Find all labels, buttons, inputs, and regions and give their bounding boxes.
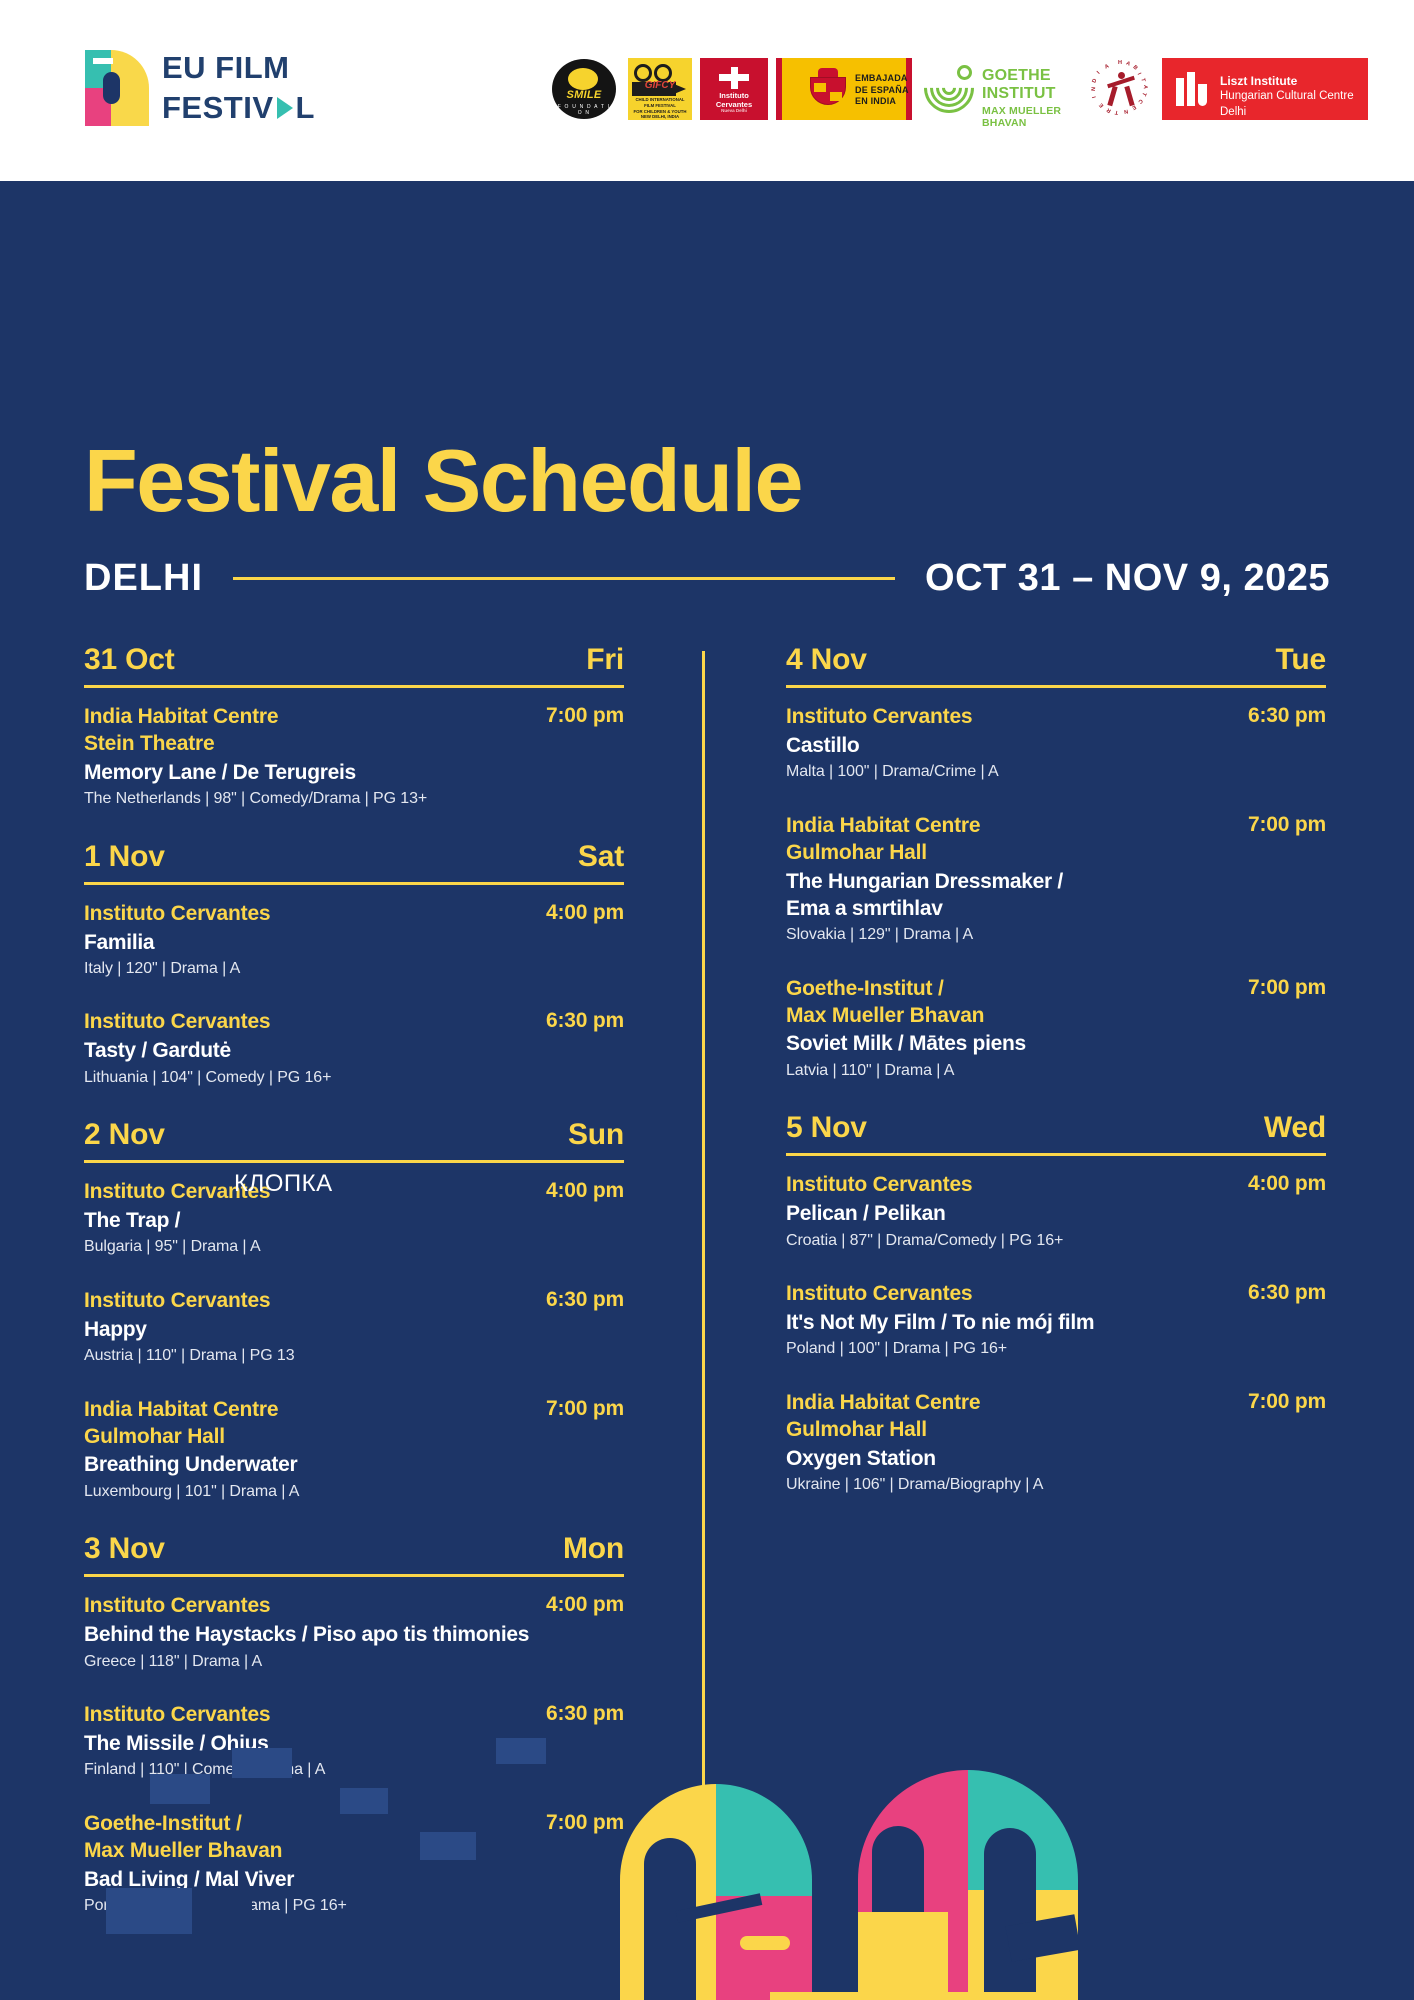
event-meta: Greece | 118" | Drama | A [84,1651,624,1673]
goethe-logo-subtitle: MAX MUELLER BHAVAN [982,106,1061,130]
event-film-title: The Trap / [84,1207,624,1234]
event-time: 4:00 pm [536,1179,624,1203]
schedule-event[interactable]: Instituto Cervantes4:00 pmBehind the Hay… [84,1593,624,1672]
liszt-logo-title: Liszt Institute [1220,73,1368,89]
day-rule [84,1160,624,1163]
date-range-label: OCT 31 – NOV 9, 2025 [925,557,1330,600]
schedule-event[interactable]: India Habitat Centre Stein Theatre7:00 p… [84,704,624,810]
day-header: 3 NovMon [84,1532,624,1566]
day-header: 4 NovTue [786,643,1326,677]
schedule-event[interactable]: India Habitat Centre Gulmohar Hall7:00 p… [786,1390,1326,1496]
event-venue: Instituto Cervantes [84,1288,270,1315]
gifcy-logo-title: GIFCY [628,80,692,91]
event-meta: Luxembourg | 101" | Drama | A [84,1481,624,1503]
schedule-event[interactable]: Instituto Cervantes6:30 pmTasty / Gardut… [84,1009,624,1088]
event-venue: Goethe-Institut / Max Mueller Bhavan [786,976,984,1030]
event-header: Goethe-Institut / Max Mueller Bhavan7:00… [786,976,1326,1030]
schedule-event[interactable]: Instituto Cervantes4:00 pmThe Trap / КЛО… [84,1179,624,1258]
event-film-title: Tasty / Gardutė [84,1037,624,1064]
event-meta: Portugal | 127 mins | Drama | PG 16+ [84,1895,624,1917]
day-date: 2 Nov [84,1118,165,1152]
day-group: 3 NovMonInstituto Cervantes4:00 pmBehind… [84,1532,624,1916]
india-habitat-centre-logo-icon: H A B I T A T C E N T R E I N D I [1088,58,1154,120]
event-film-title: Behind the Haystacks / Piso apo tis thim… [84,1621,624,1648]
event-venue: Instituto Cervantes [786,1281,972,1308]
event-film-title: Castillo [786,732,1326,759]
event-meta: Austria | 110" | Drama | PG 13 [84,1345,624,1367]
schedule-event[interactable]: Goethe-Institut / Max Mueller Bhavan7:00… [84,1811,624,1917]
event-meta: The Netherlands | 98" | Comedy/Drama | P… [84,788,624,810]
eu-film-festival-brand: EU FILM FESTIV L [85,48,315,127]
page-title: Festival Schedule [84,437,802,525]
event-header: Instituto Cervantes4:00 pm [786,1172,1326,1199]
day-header: 5 NovWed [786,1111,1326,1145]
event-header: India Habitat Centre Stein Theatre7:00 p… [84,704,624,758]
event-header: Instituto Cervantes6:30 pm [84,1288,624,1315]
event-film-title: Bad Living / Mal Viver [84,1866,624,1893]
event-meta: Finland | 110" | Comedy/Drama | A [84,1759,624,1781]
event-time: 6:30 pm [1238,704,1326,728]
cervantes-logo-title: Instituto Cervantes [700,91,768,110]
day-weekday: Wed [1264,1111,1326,1145]
event-film-title: Soviet Milk / Mātes piens [786,1030,1326,1057]
event-film-title: The Hungarian Dressmaker / Ema a smrtihl… [786,868,1326,923]
event-meta: Malta | 100" | Drama/Crime | A [786,761,1326,783]
poster-body: Festival Schedule DELHI OCT 31 – NOV 9, … [0,181,1414,2000]
event-time: 4:00 pm [1238,1172,1326,1196]
schedule-event[interactable]: Goethe-Institut / Max Mueller Bhavan7:00… [786,976,1326,1082]
event-venue: Instituto Cervantes [84,1702,270,1729]
event-film-title: It's Not My Film / To nie mój film [786,1309,1326,1336]
event-venue: India Habitat Centre Gulmohar Hall [84,1397,278,1451]
event-meta: Lithuania | 104" | Comedy | PG 16+ [84,1067,624,1089]
schedule-event[interactable]: Instituto Cervantes4:00 pmFamiliaItaly |… [84,901,624,980]
event-header: Instituto Cervantes4:00 pm [84,1179,624,1206]
day-date: 31 Oct [84,643,175,677]
event-time: 7:00 pm [536,1811,624,1835]
event-meta: Italy | 120" | Drama | A [84,958,624,980]
poster-header: EU FILM FESTIV L SMILE F O U N D A T I O… [0,0,1414,181]
brand-wordmark: EU FILM FESTIV L [162,48,315,127]
event-time: 7:00 pm [1238,976,1326,1000]
event-time: 6:30 pm [536,1288,624,1312]
day-header: 2 NovSun [84,1118,624,1152]
event-header: Goethe-Institut / Max Mueller Bhavan7:00… [84,1811,624,1865]
event-header: India Habitat Centre Gulmohar Hall7:00 p… [786,1390,1326,1444]
spain-logo-title: EMBAJADA DE ESPAÑA EN INDIA [855,73,909,108]
horizontal-rule [233,577,895,580]
schedule-column-left: 31 OctFriIndia Habitat Centre Stein Thea… [84,643,624,1947]
event-header: Instituto Cervantes6:30 pm [84,1702,624,1729]
smile-foundation-logo-icon: SMILE F O U N D A T I O N [550,58,620,120]
event-venue: India Habitat Centre Stein Theatre [84,704,278,758]
day-weekday: Tue [1275,643,1326,677]
event-venue: India Habitat Centre Gulmohar Hall [786,813,980,867]
day-group: 4 NovTueInstituto Cervantes6:30 pmCastil… [786,643,1326,1081]
event-film-title: Familia [84,929,624,956]
event-venue: Instituto Cervantes [84,1009,270,1036]
city-label: DELHI [84,557,203,600]
event-film-title: Oxygen Station [786,1445,1326,1472]
day-header: 1 NovSat [84,840,624,874]
event-meta: Latvia | 110" | Drama | A [786,1060,1326,1082]
event-film-title-original: КЛОПКА [234,1170,333,1198]
day-weekday: Sun [568,1118,624,1152]
column-divider [702,651,705,2000]
event-header: Instituto Cervantes4:00 pm [84,901,624,928]
event-venue: Instituto Cervantes [786,1172,972,1199]
gifcy-logo-subtitle: CHILD INTERNATIONAL FILM FESTIVAL FOR CH… [628,97,692,120]
day-rule [84,685,624,688]
event-venue: Goethe-Institut / Max Mueller Bhavan [84,1811,282,1865]
event-time: 6:30 pm [536,1009,624,1033]
liszt-institute-logo-icon: Liszt Institute Hungarian Cultural Centr… [1162,58,1368,120]
day-header: 31 OctFri [84,643,624,677]
event-film-title: Happy [84,1316,624,1343]
gifcy-logo-icon: GIFCY CHILD INTERNATIONAL FILM FESTIVAL … [628,58,692,120]
day-date: 5 Nov [786,1111,867,1145]
event-header: India Habitat Centre Gulmohar Hall7:00 p… [84,1397,624,1451]
schedule-event[interactable]: India Habitat Centre Gulmohar Hall7:00 p… [786,813,1326,946]
schedule-event[interactable]: Instituto Cervantes4:00 pmPelican / Peli… [786,1172,1326,1251]
event-time: 4:00 pm [536,1593,624,1617]
goethe-institut-logo-icon: GOETHE INSTITUT MAX MUELLER BHAVAN [920,58,1080,120]
event-time: 7:00 pm [536,1397,624,1421]
event-header: India Habitat Centre Gulmohar Hall7:00 p… [786,813,1326,867]
day-group: 2 NovSunInstituto Cervantes4:00 pmThe Tr… [84,1118,624,1502]
brand-line-1: EU FILM [162,48,315,88]
day-group: 1 NovSatInstituto Cervantes4:00 pmFamili… [84,840,624,1089]
partner-logos: SMILE F O U N D A T I O N GIFCY CHILD IN… [550,44,1368,134]
event-venue: Instituto Cervantes [84,1593,270,1620]
day-rule [786,685,1326,688]
event-time: 7:00 pm [1238,813,1326,837]
event-time: 7:00 pm [536,704,624,728]
day-group: 5 NovWedInstituto Cervantes4:00 pmPelica… [786,1111,1326,1495]
event-meta: Ukraine | 106" | Drama/Biography | A [786,1474,1326,1496]
ihc-logo-title: H A B I T A T C E N T R E I N D I [1088,58,1154,120]
day-weekday: Mon [563,1532,624,1566]
day-weekday: Fri [586,643,624,677]
event-meta: Croatia | 87" | Drama/Comedy | PG 16+ [786,1230,1326,1252]
event-header: Instituto Cervantes4:00 pm [84,1593,624,1620]
event-meta: Poland | 100" | Drama | PG 16+ [786,1338,1326,1360]
day-rule [786,1153,1326,1156]
eu-film-festival-logo-icon [85,50,149,126]
schedule-event[interactable]: Instituto Cervantes6:30 pmCastilloMalta … [786,704,1326,783]
schedule-event[interactable]: Instituto Cervantes6:30 pmIt's Not My Fi… [786,1281,1326,1360]
play-triangle-icon [277,97,293,119]
goethe-logo-title: GOETHE INSTITUT [982,67,1061,103]
event-film-title: Memory Lane / De Terugreis [84,759,624,786]
schedule-event[interactable]: India Habitat Centre Gulmohar Hall7:00 p… [84,1397,624,1503]
day-weekday: Sat [578,840,624,874]
city-date-row: DELHI OCT 31 – NOV 9, 2025 [84,557,1330,600]
day-rule [84,1574,624,1577]
event-meta: Bulgaria | 95" | Drama | A [84,1236,624,1258]
schedule-event[interactable]: Instituto Cervantes6:30 pmHappyAustria |… [84,1288,624,1367]
event-venue: Instituto Cervantes [84,901,270,928]
embassy-of-spain-logo-icon: EMBAJADA DE ESPAÑA EN INDIA [776,58,912,120]
event-meta: Slovakia | 129" | Drama | A [786,924,1326,946]
schedule-event[interactable]: Instituto Cervantes6:30 pmThe Missile / … [84,1702,624,1781]
event-film-title: The Missile / Ohjus [84,1730,624,1757]
cervantes-logo-subtitle: Nueva Delhi [700,108,768,113]
day-date: 4 Nov [786,643,867,677]
event-header: Instituto Cervantes6:30 pm [786,704,1326,731]
event-time: 6:30 pm [1238,1281,1326,1305]
event-header: Instituto Cervantes6:30 pm [84,1009,624,1036]
day-rule [84,882,624,885]
event-time: 7:00 pm [1238,1390,1326,1414]
event-film-title: Breathing Underwater [84,1451,624,1478]
day-date: 3 Nov [84,1532,165,1566]
day-group: 31 OctFriIndia Habitat Centre Stein Thea… [84,643,624,810]
schedule-column-right: 4 NovTueInstituto Cervantes6:30 pmCastil… [786,643,1326,1526]
smile-logo-title: SMILE [558,89,610,101]
brand-line-2: FESTIV [162,88,274,128]
event-venue: India Habitat Centre Gulmohar Hall [786,1390,980,1444]
smile-logo-subtitle: F O U N D A T I O N [555,104,613,116]
event-film-title: Pelican / Pelikan [786,1200,1326,1227]
liszt-logo-subtitle: Hungarian Cultural Centre Delhi [1220,89,1368,120]
day-date: 1 Nov [84,840,165,874]
instituto-cervantes-logo-icon: Instituto Cervantes Nueva Delhi [700,58,768,120]
event-header: Instituto Cervantes6:30 pm [786,1281,1326,1308]
brand-line-2-tail: L [296,88,315,128]
event-venue: Instituto Cervantes [786,704,972,731]
event-time: 4:00 pm [536,901,624,925]
event-time: 6:30 pm [536,1702,624,1726]
